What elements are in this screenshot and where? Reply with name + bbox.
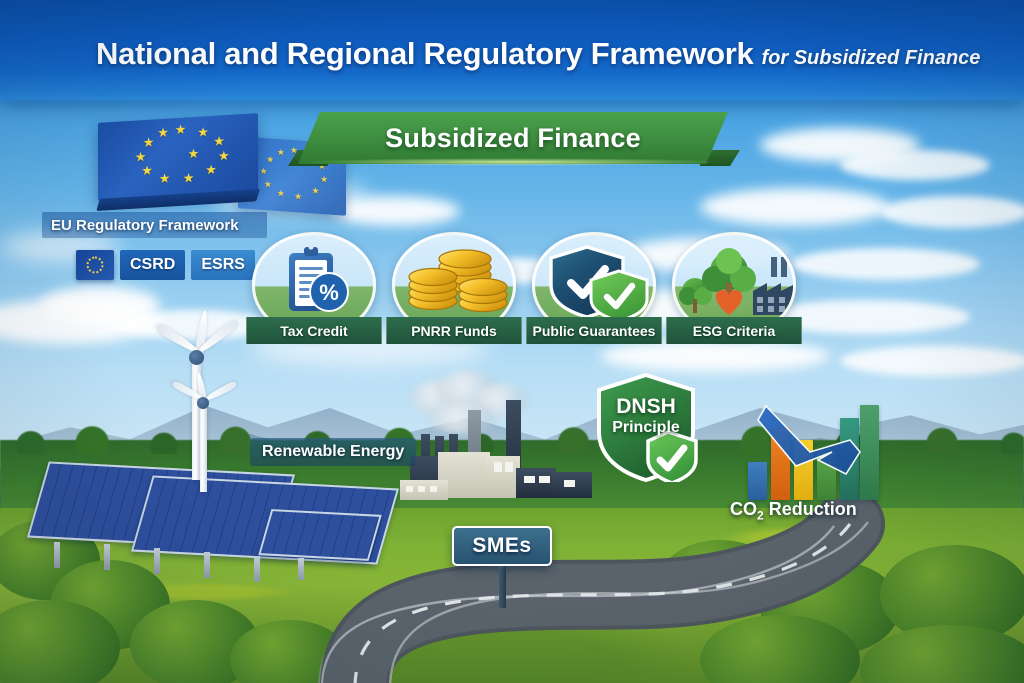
- factory-window: [524, 476, 535, 483]
- badge-csrd-label: CSRD: [130, 256, 175, 274]
- dnsh-principle-text: DNSH Principle: [592, 396, 700, 436]
- pillar-label: PNRR Funds: [386, 317, 522, 344]
- co2-label-post: Reduction: [764, 499, 857, 519]
- eu-stars-primary: ★ ★ ★ ★ ★ ★ ★ ★ ★ ★ ★ ★: [98, 113, 258, 201]
- solar-panel-leg: [204, 552, 210, 578]
- eu-framework-label-text: EU Regulatory Framework: [51, 217, 239, 234]
- pillar-pnrr-funds[interactable]: PNRR Funds: [386, 232, 522, 344]
- smes-sign-board: SMEs: [452, 526, 552, 566]
- pillar-tax-credit[interactable]: % Tax Credit: [246, 232, 382, 344]
- subsidized-finance-banner: Subsidized Finance: [298, 112, 728, 164]
- renewable-energy-label: Renewable Energy: [250, 438, 416, 466]
- solar-panel-leg: [54, 542, 60, 568]
- pillar-label: Tax Credit: [246, 317, 382, 344]
- subsidized-finance-label: Subsidized Finance: [385, 123, 641, 154]
- pillar-esg-criteria-label: ESG Criteria: [693, 323, 775, 339]
- pillar-label: ESG Criteria: [666, 317, 802, 344]
- co2-label-pre: CO: [730, 499, 757, 519]
- pillar-esg-criteria[interactable]: ESG Criteria: [666, 232, 802, 344]
- page-title-sub: for Subsidized Finance: [761, 47, 980, 69]
- dnsh-line-2: Principle: [592, 419, 700, 436]
- factory-window: [418, 486, 425, 492]
- pillar-icon-row: % Tax Credit: [246, 232, 802, 344]
- eu-framework-label: EU Regulatory Framework: [42, 212, 267, 238]
- badge-csrd[interactable]: CSRD: [120, 250, 185, 280]
- co2-label-subscript: 2: [757, 509, 764, 523]
- wind-turbine-small: [184, 382, 274, 492]
- badge-esrs-label: ESRS: [201, 256, 245, 274]
- turbine-tower: [200, 404, 207, 492]
- smes-sign-label: SMEs: [472, 534, 531, 558]
- factory-window: [539, 476, 550, 483]
- solar-panel-leg: [254, 556, 260, 582]
- infographic-canvas: National and Regional Regulatory Framewo…: [0, 0, 1024, 683]
- svg-text:%: %: [319, 280, 339, 305]
- turbine-hub: [189, 350, 204, 365]
- ribbon-glow: [300, 158, 726, 166]
- page-title-main: National and Regional Regulatory Framewo…: [96, 36, 753, 71]
- solar-panel-leg: [104, 544, 110, 570]
- shield-check-icon: [535, 243, 656, 317]
- regulation-badges: CSRD ESRS: [76, 250, 255, 280]
- page-title: National and Regional Regulatory Framewo…: [96, 36, 980, 72]
- eu-flag-mini-icon: [76, 250, 114, 280]
- co2-reduction-chart: [748, 400, 878, 500]
- co2-reduction-label-text: CO2 Reduction: [730, 499, 857, 523]
- gold-coins-icon: [395, 243, 516, 317]
- factory-window: [564, 480, 575, 487]
- pillar-public-guarantees-label: Public Guarantees: [533, 323, 656, 339]
- industrial-factory: [398, 378, 598, 518]
- turbine-hub: [197, 397, 209, 409]
- dnsh-line-1: DNSH: [592, 396, 700, 419]
- factory-window: [505, 462, 513, 472]
- factory-building: [486, 456, 520, 498]
- pillar-label: Public Guarantees: [526, 317, 662, 344]
- renewable-energy-label-text: Renewable Energy: [262, 443, 404, 461]
- smes-roadsign: SMEs: [452, 526, 552, 608]
- solar-panel: [258, 509, 382, 561]
- eu-flag-primary: ★ ★ ★ ★ ★ ★ ★ ★ ★ ★ ★ ★: [98, 113, 258, 201]
- solar-panel-leg: [298, 558, 304, 580]
- smes-sign-post: [499, 566, 506, 608]
- pillar-pnrr-funds-label: PNRR Funds: [411, 323, 497, 339]
- pillar-public-guarantees[interactable]: Public Guarantees: [526, 232, 662, 344]
- dnsh-check-badge: [648, 432, 696, 482]
- downward-trend-arrow-icon: [748, 400, 878, 500]
- smoke-plume: [428, 404, 498, 434]
- pillar-tax-credit-label: Tax Credit: [280, 323, 347, 339]
- eu-stars-ring-icon: [87, 257, 104, 274]
- header-bar: National and Regional Regulatory Framewo…: [0, 0, 1024, 100]
- factory-window: [494, 462, 502, 472]
- factory-building: [516, 468, 556, 498]
- factory-window: [406, 486, 413, 492]
- clipboard-percent-icon: %: [255, 243, 376, 317]
- co2-reduction-label: CO2 Reduction: [718, 496, 869, 526]
- solar-panel-leg: [154, 548, 160, 574]
- dnsh-principle-badge: DNSH Principle: [592, 372, 700, 482]
- factory-window: [430, 486, 437, 492]
- tree-heart-factory-icon: [675, 243, 796, 317]
